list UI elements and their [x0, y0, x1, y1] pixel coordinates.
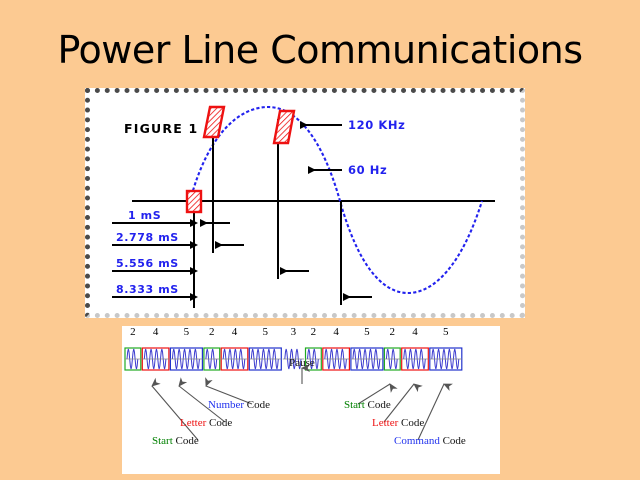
legend-command-code-right: Command Code — [394, 435, 466, 447]
time-label-8333ms: 8.333 mS — [116, 283, 179, 296]
burst-digit: 5 — [364, 326, 370, 338]
burst-digit: 5 — [184, 326, 190, 338]
legend-number-key: Number — [208, 399, 244, 411]
legend-right: Start Code Letter Code Command Code — [344, 399, 466, 447]
burst-digit: 4 — [412, 326, 418, 338]
marker-baseline — [187, 191, 201, 212]
burst-digit: 4 — [232, 326, 238, 338]
annotation-label-60hz: 60 Hz — [348, 163, 387, 177]
legend-letter-key: Letter — [180, 417, 207, 429]
legend-letter-key-right: Letter — [372, 417, 399, 429]
legend-start-suffix-right: Code — [368, 399, 391, 411]
legend-start-code: Start Code — [152, 435, 199, 447]
legend-command-key-right: Command — [394, 435, 440, 447]
marker-peak-left — [204, 107, 224, 137]
burst-digit: 4 — [153, 326, 159, 338]
figure1-canvas: FIGURE 1 120 KHz — [90, 93, 520, 313]
legend-start-suffix: Code — [176, 435, 199, 447]
legend-letter-code-right: Letter Code — [372, 417, 424, 429]
figure1-panel: FIGURE 1 120 KHz — [85, 88, 525, 318]
burst-digit: 2 — [130, 326, 136, 338]
time-label-2778ms: 2.778 mS — [116, 231, 179, 244]
burst-digit: 2 — [209, 326, 215, 338]
burst-digit: 4 — [333, 326, 339, 338]
legend-start-code-right: Start Code — [344, 399, 391, 411]
legend-letter-code: Letter Code — [180, 417, 232, 429]
burst-digit: 3 — [291, 326, 297, 338]
annotation-label-120khz: 120 KHz — [348, 118, 405, 132]
legend-number-suffix: Code — [247, 399, 270, 411]
time-label-5556ms: 5.556 mS — [116, 257, 179, 270]
legend-start-key: Start — [152, 435, 173, 447]
burst-digit: 2 — [390, 326, 396, 338]
marker-peak-right — [274, 111, 294, 143]
page-title: Power Line Communications — [0, 28, 640, 72]
leader-command-right — [418, 384, 444, 440]
leader-arrows — [152, 368, 444, 440]
digit-row: 2452453245245 — [130, 326, 449, 338]
legend-letter-suffix-right: Code — [401, 417, 424, 429]
figure2-panel: 2452453245245 Pause Number Code Letter C… — [122, 326, 500, 474]
legend-letter-suffix: Code — [209, 417, 232, 429]
legend-pause: Pause — [289, 357, 315, 369]
figure2-diagram: 2452453245245 Pause Number Code Letter C… — [122, 326, 500, 474]
figure1-caption: FIGURE 1 — [124, 121, 198, 136]
figure1-diagram: FIGURE 1 120 KHz — [90, 93, 520, 313]
legend-number-code: Number Code — [208, 399, 270, 411]
burst-digit: 5 — [263, 326, 269, 338]
legend-start-key-right: Start — [344, 399, 365, 411]
leader-start-left — [152, 386, 198, 440]
legend-command-suffix-right: Code — [443, 435, 466, 447]
time-label-1ms: 1 mS — [128, 209, 161, 222]
burst-digit: 5 — [443, 326, 449, 338]
burst-digit: 2 — [311, 326, 317, 338]
